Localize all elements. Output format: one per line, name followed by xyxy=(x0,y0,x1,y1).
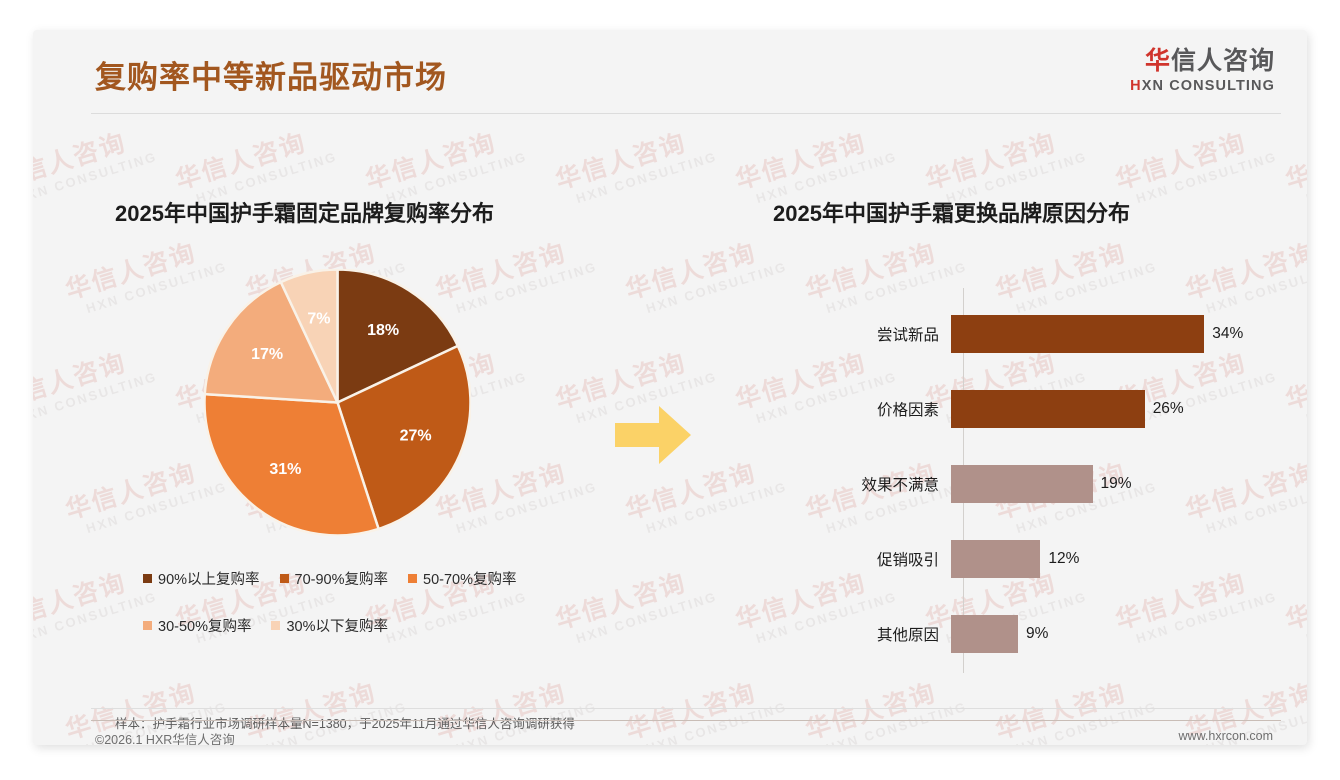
bar-track: 12% xyxy=(951,540,1283,578)
pie-legend: 90%以上复购率70-90%复购率50-70%复购率30-50%复购率30%以下… xyxy=(143,568,603,662)
bar-track: 26% xyxy=(951,390,1283,428)
bar-category-label: 价格因素 xyxy=(773,398,951,420)
watermark: 华信人咨询HXN CONSULTING xyxy=(623,453,789,540)
logo-en-rest: XN CONSULTING xyxy=(1142,78,1275,94)
legend-label: 30-50%复购率 xyxy=(158,615,251,636)
slide-footer: ©2026.1 HXR华信人咨询 www.hxrcon.com xyxy=(33,720,1307,745)
slide-header: 复购率中等新品驱动市场 华信人咨询 HXN CONSULTING xyxy=(33,30,1307,114)
bar-value-label: 9% xyxy=(1026,625,1048,643)
footer-divider xyxy=(91,708,1281,709)
bar-row: 其他原因9% xyxy=(773,615,1283,653)
pie-slice-label: 27% xyxy=(400,428,432,445)
watermark: 华信人咨询HXN CONSULTING xyxy=(1283,123,1307,210)
header-divider xyxy=(91,113,1281,114)
bar-category-label: 尝试新品 xyxy=(773,323,951,345)
pie-slice-label: 31% xyxy=(269,461,301,478)
legend-swatch xyxy=(408,574,417,583)
watermark: 华信人咨询HXN CONSULTING xyxy=(1113,123,1279,210)
legend-row: 30-50%复购率30%以下复购率 xyxy=(143,615,603,636)
pie-slice-label: 17% xyxy=(251,346,283,363)
bar-category-label: 促销吸引 xyxy=(773,548,951,570)
legend-item[interactable]: 90%以上复购率 xyxy=(143,568,260,589)
bar-fill[interactable] xyxy=(951,540,1040,578)
pie-svg: 18%27%31%17%7% xyxy=(204,269,471,536)
watermark: 华信人咨询HXN CONSULTING xyxy=(33,343,159,430)
pie-slice-label: 7% xyxy=(307,311,330,328)
bar-track: 19% xyxy=(951,465,1283,503)
legend-label: 30%以下复购率 xyxy=(286,615,388,636)
watermark: 华信人咨询HXN CONSULTING xyxy=(33,563,159,650)
legend-item[interactable]: 50-70%复购率 xyxy=(408,568,516,589)
legend-swatch xyxy=(271,621,280,630)
legend-swatch xyxy=(280,574,289,583)
legend-item[interactable]: 70-90%复购率 xyxy=(280,568,388,589)
left-chart-title: 2025年中国护手霜固定品牌复购率分布 xyxy=(115,196,494,228)
bar-value-label: 19% xyxy=(1101,475,1132,493)
bar-row: 促销吸引12% xyxy=(773,540,1283,578)
bar-fill[interactable] xyxy=(951,390,1145,428)
legend-item[interactable]: 30%以下复购率 xyxy=(271,615,388,636)
logo-en-accent: H xyxy=(1130,78,1142,94)
bar-fill[interactable] xyxy=(951,315,1204,353)
legend-label: 70-90%复购率 xyxy=(295,568,388,589)
logo-cn-accent: 华 xyxy=(1145,47,1171,75)
watermark: 华信人咨询HXN CONSULTING xyxy=(1283,563,1307,650)
bar-row: 尝试新品34% xyxy=(773,315,1283,353)
bar-category-label: 效果不满意 xyxy=(773,473,951,495)
logo-english-text: HXN CONSULTING xyxy=(1130,78,1275,95)
watermark: 华信人咨询HXN CONSULTING xyxy=(553,123,719,210)
right-chart-title: 2025年中国护手霜更换品牌原因分布 xyxy=(773,196,1130,228)
bar-category-label: 其他原因 xyxy=(773,623,951,645)
bar-value-label: 34% xyxy=(1212,325,1243,343)
switch-reason-bar-chart: 尝试新品34%价格因素26%效果不满意19%促销吸引12%其他原因9% xyxy=(773,288,1283,673)
bar-row: 价格因素26% xyxy=(773,390,1283,428)
slide-canvas: 华信人咨询HXN CONSULTING华信人咨询HXN CONSULTING华信… xyxy=(33,30,1307,745)
watermark: 华信人咨询HXN CONSULTING xyxy=(1283,343,1307,430)
logo-cn-rest: 信人咨询 xyxy=(1171,47,1275,75)
pie-slice-label: 18% xyxy=(367,322,399,339)
right-arrow-svg xyxy=(615,406,691,464)
bar-track: 9% xyxy=(951,615,1283,653)
company-logo: 华信人咨询 HXN CONSULTING xyxy=(1130,48,1275,95)
legend-swatch xyxy=(143,621,152,630)
legend-swatch xyxy=(143,574,152,583)
logo-chinese-text: 华信人咨询 xyxy=(1130,48,1275,76)
legend-label: 90%以上复购率 xyxy=(158,568,260,589)
footer-rule xyxy=(91,720,1281,721)
bar-fill[interactable] xyxy=(951,465,1093,503)
bar-track: 34% xyxy=(951,315,1283,353)
page-title: 复购率中等新品驱动市场 xyxy=(95,52,447,97)
copyright-text: ©2026.1 HXR华信人咨询 xyxy=(95,729,235,745)
watermark: 华信人咨询HXN CONSULTING xyxy=(623,233,789,320)
legend-row: 90%以上复购率70-90%复购率50-70%复购率 xyxy=(143,568,603,589)
bar-fill[interactable] xyxy=(951,615,1018,653)
legend-label: 50-70%复购率 xyxy=(423,568,516,589)
repurchase-rate-pie-chart: 18%27%31%17%7% xyxy=(204,269,471,536)
website-text: www.hxrcon.com xyxy=(1179,729,1273,743)
bar-value-label: 26% xyxy=(1153,400,1184,418)
right-arrow-icon xyxy=(615,406,691,464)
legend-item[interactable]: 30-50%复购率 xyxy=(143,615,251,636)
bar-row: 效果不满意19% xyxy=(773,465,1283,503)
bar-value-label: 12% xyxy=(1048,550,1079,568)
